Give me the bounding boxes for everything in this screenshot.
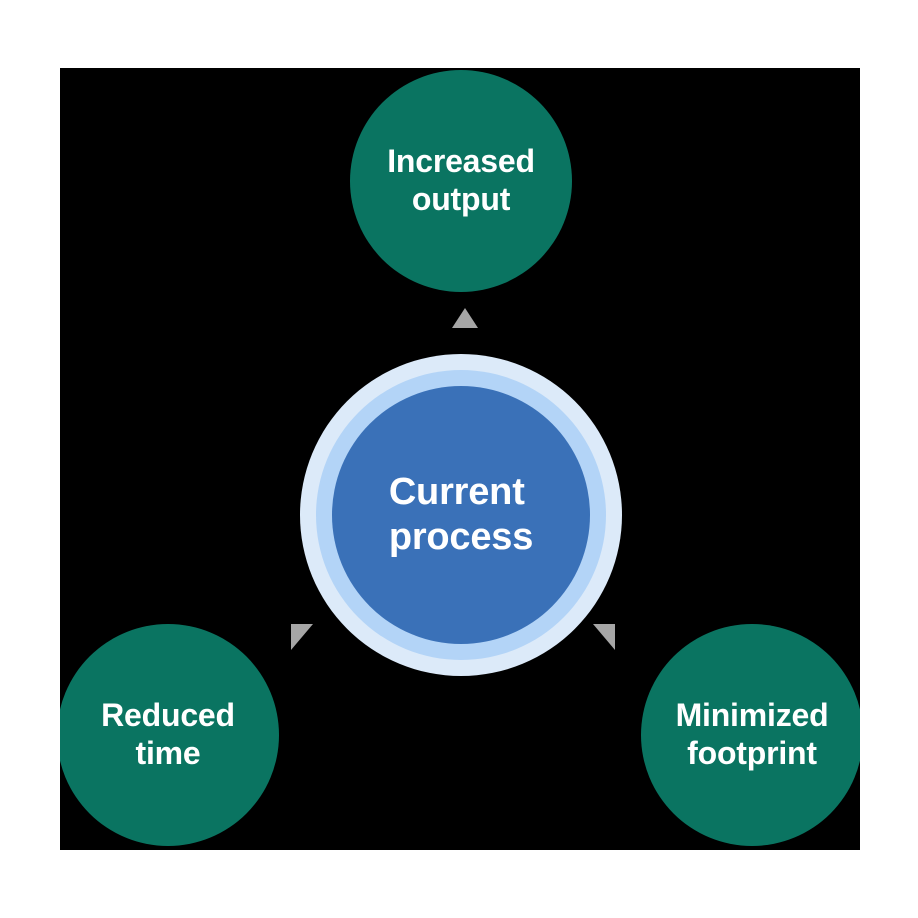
diagram-canvas: Increased output Reduced time Minimized … bbox=[0, 0, 918, 918]
diagram-panel: Increased output Reduced time Minimized … bbox=[60, 68, 860, 850]
node-increased-output-label: Increased output bbox=[387, 143, 535, 219]
node-reduced-time-label: Reduced time bbox=[101, 697, 235, 773]
node-increased-output[interactable]: Increased output bbox=[350, 70, 572, 292]
node-minimized-footprint[interactable]: Minimized footprint bbox=[641, 624, 860, 846]
center-core[interactable]: Current process bbox=[332, 386, 590, 644]
node-reduced-time[interactable]: Reduced time bbox=[60, 624, 279, 846]
node-current-process[interactable]: Current process bbox=[300, 354, 622, 676]
node-minimized-footprint-label: Minimized footprint bbox=[676, 697, 829, 773]
node-current-process-label: Current process bbox=[389, 470, 533, 560]
triangle-up-icon bbox=[452, 308, 478, 328]
